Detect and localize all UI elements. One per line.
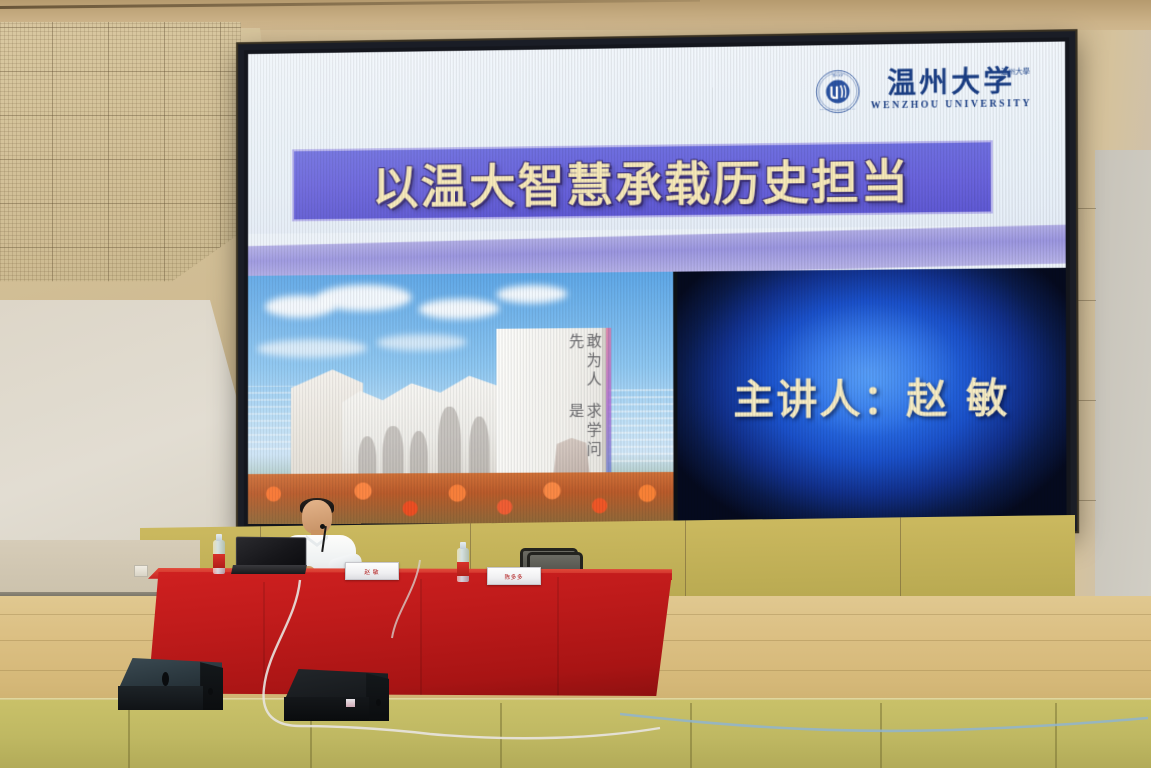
slide-surface: 温州大学 WENZHOU UNIVERSITY 温州大学 WENZHOU UNI…	[248, 42, 1067, 525]
acoustic-panel-grid	[0, 22, 241, 292]
speaker-name-panel: 主讲人：赵 敏	[677, 268, 1066, 523]
monitor-side-face	[366, 673, 389, 721]
campus-sculpture-photo: 敢为人先 求学问是	[248, 272, 678, 525]
slide-body: 敢为人先 求学问是 主讲人：赵 敏	[248, 268, 1067, 524]
cloud	[256, 339, 366, 358]
wenzhou-university-seal-icon: 温州大学 WENZHOU UNIVERSITY	[815, 69, 860, 114]
monitor-front-grille	[284, 697, 369, 721]
svg-text:温州大学: 温州大学	[832, 73, 843, 77]
slide-title: 以温大智慧承载历史担当	[372, 144, 910, 217]
university-name-superscript: 溫州大學	[1001, 69, 1030, 77]
university-branding: 温州大学 WENZHOU UNIVERSITY 温州大学 WENZHOU UNI…	[815, 66, 1032, 114]
slide-title-bar: 以温大智慧承载历史担当	[292, 140, 993, 221]
monitor-brand-badge	[346, 699, 355, 707]
cloud	[376, 334, 467, 351]
speaker-name-text: 主讲人：赵 敏	[677, 365, 1066, 427]
monitor-front-grille	[118, 686, 203, 710]
cloud	[419, 298, 500, 319]
svg-text:WENZHOU UNIVERSITY: WENZHOU UNIVERSITY	[820, 107, 856, 111]
led-display-screen[interactable]: 温州大学 WENZHOU UNIVERSITY 温州大学 WENZHOU UNI…	[238, 31, 1077, 534]
monitor-side-face	[200, 662, 223, 710]
monitor-handle-slot	[162, 672, 169, 686]
sculpture-wall-edge	[606, 327, 612, 482]
cloud	[496, 285, 567, 304]
university-name-block: 温州大学 WENZHOU UNIVERSITY 溫州大學	[871, 68, 1032, 112]
university-name-en: WENZHOU UNIVERSITY	[871, 100, 1032, 112]
cloud	[316, 284, 412, 311]
monitor-port	[208, 688, 213, 695]
slide-header: 温州大学 WENZHOU UNIVERSITY 温州大学 WENZHOU UNI…	[248, 42, 1066, 234]
motto-line-2: 敢为人先	[567, 332, 602, 393]
floor-cable-blue	[620, 700, 1150, 768]
lecture-hall-scene: 温州大学 WENZHOU UNIVERSITY 温州大学 WENZHOU UNI…	[0, 0, 1151, 768]
stage-monitor-left	[118, 658, 222, 710]
university-name-cn: 温州大学	[887, 68, 1015, 98]
stage-monitor-right	[284, 669, 388, 721]
monitor-port	[376, 699, 381, 706]
